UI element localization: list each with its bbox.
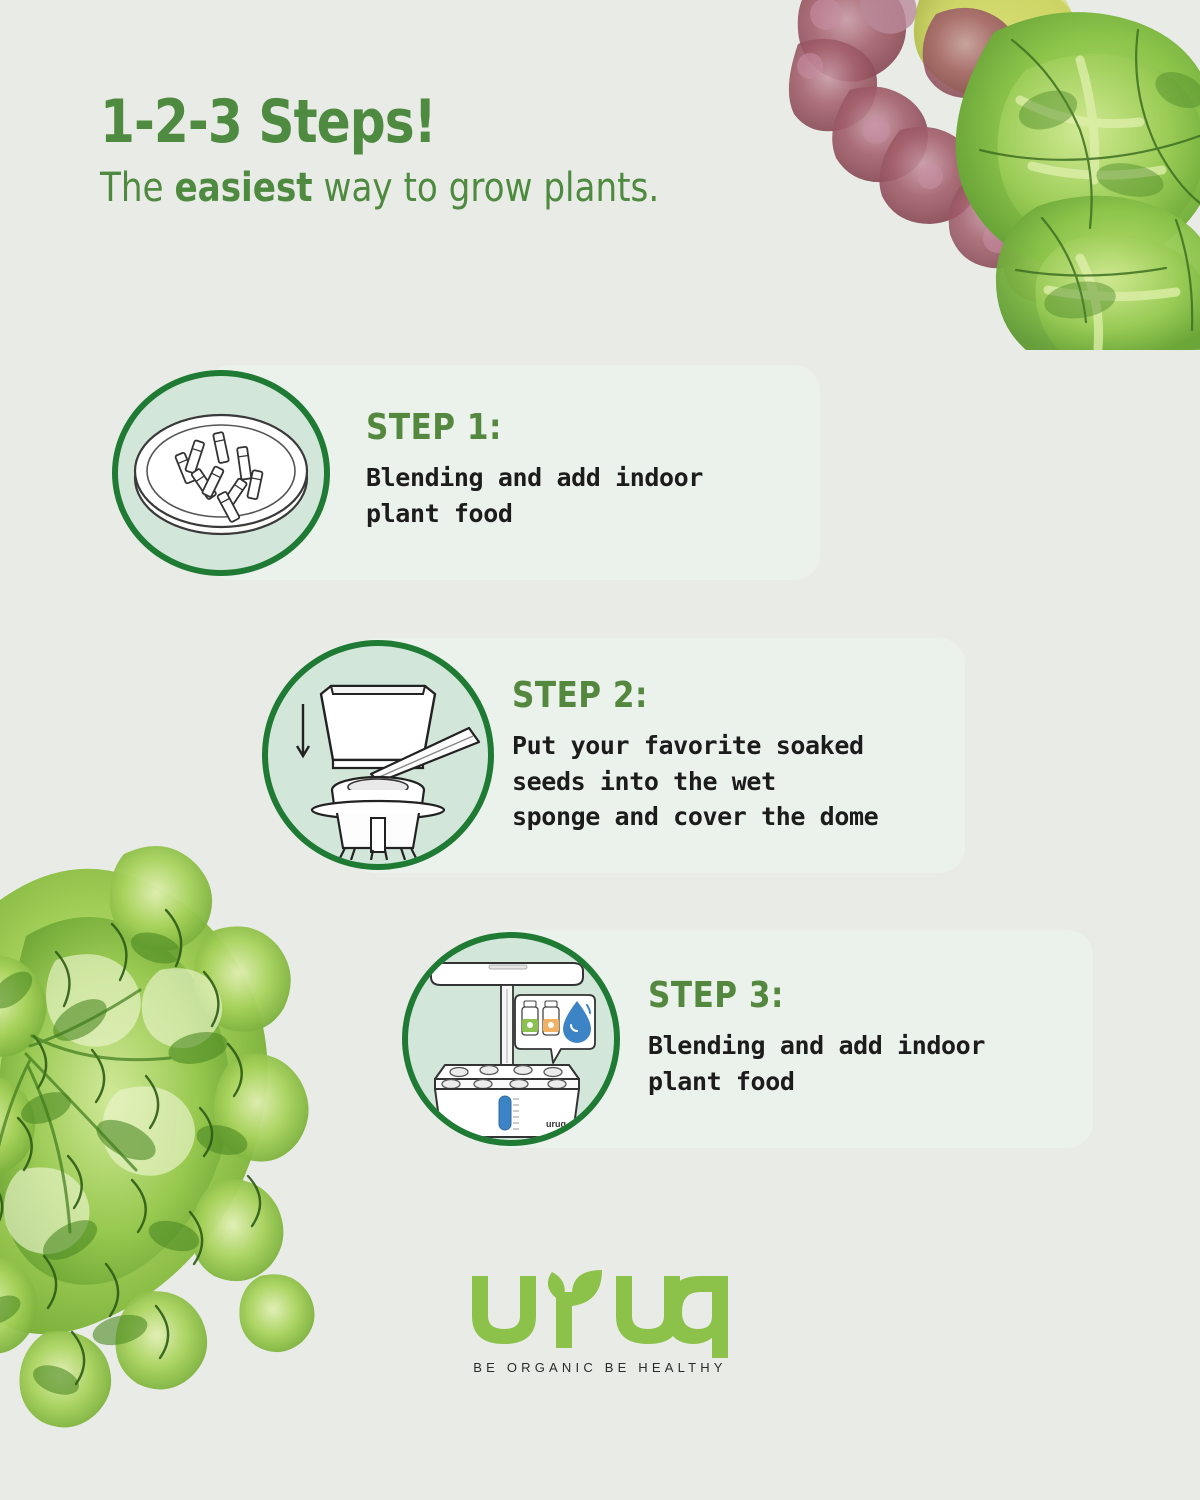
step-title-3: STEP 3: — [648, 978, 1075, 1014]
header-block: 1-2-3 Steps! The easiest way to grow pla… — [100, 92, 689, 208]
uruq-wordmark-icon — [460, 1268, 740, 1358]
seed-tray-icon — [121, 378, 321, 568]
step-body-2: Put your favorite soaked seeds into the … — [512, 728, 967, 835]
lettuce-watercolor-top-right — [780, 0, 1200, 350]
step-body-3: Blending and add indoor plant food — [648, 1028, 1093, 1099]
step-icon-circle-1 — [112, 370, 330, 576]
step-icon-circle-3: uruq — [402, 932, 620, 1146]
step-body-1: Blending and add indoor plant food — [366, 460, 816, 531]
subtitle-prefix: The — [100, 165, 174, 211]
page-title: 1-2-3 Steps! — [100, 92, 647, 152]
subtitle-suffix: way to grow plants. — [313, 165, 660, 211]
logo-tagline: BE ORGANIC BE HEALTHY — [473, 1360, 726, 1375]
page-subtitle: The easiest way to grow plants. — [100, 168, 659, 208]
hydroponic-unit-icon: uruq — [411, 939, 611, 1139]
device-brand-label: uruq — [546, 1119, 566, 1129]
step-text-2: STEP 2: Put your favorite soaked seeds i… — [512, 678, 967, 835]
step-title-1: STEP 1: — [366, 410, 798, 446]
brand-logo: BE ORGANIC BE HEALTHY — [0, 1268, 1200, 1375]
step-text-3: STEP 3: Blending and add indoor plant fo… — [648, 978, 1093, 1099]
step-title-2: STEP 2: — [512, 678, 949, 714]
infographic-canvas: 1-2-3 Steps! The easiest way to grow pla… — [0, 0, 1200, 1500]
dome-tweezers-sponge-icon — [273, 650, 483, 860]
step-text-1: STEP 1: Blending and add indoor plant fo… — [366, 410, 816, 531]
subtitle-emphasis: easiest — [174, 165, 312, 211]
step-icon-circle-2 — [262, 640, 494, 870]
